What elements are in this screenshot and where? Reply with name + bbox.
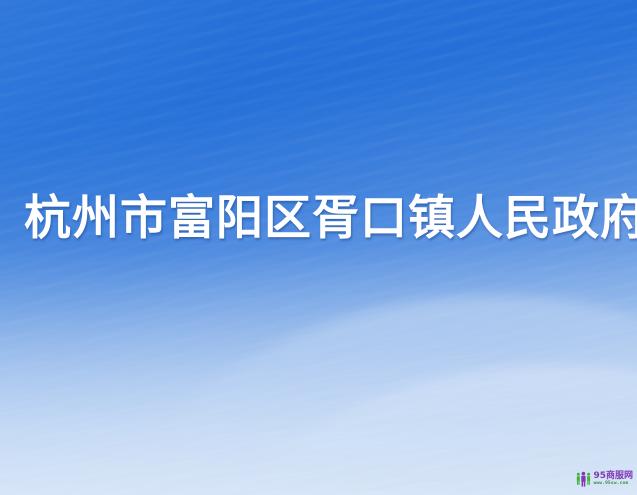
people-figure-icon (576, 471, 591, 487)
banner-title: 杭州市富阳区胥口镇人民政府 (24, 193, 637, 245)
site-banner: 杭州市富阳区胥口镇人民政府 95商服网 www.95sw.com (0, 0, 637, 495)
watermark-site-name: 95商服网 (593, 472, 633, 481)
watermark-site-url: www.95sw.com (593, 482, 633, 487)
watermark: 95商服网 www.95sw.com (576, 471, 633, 487)
watermark-text: 95商服网 www.95sw.com (593, 472, 633, 487)
